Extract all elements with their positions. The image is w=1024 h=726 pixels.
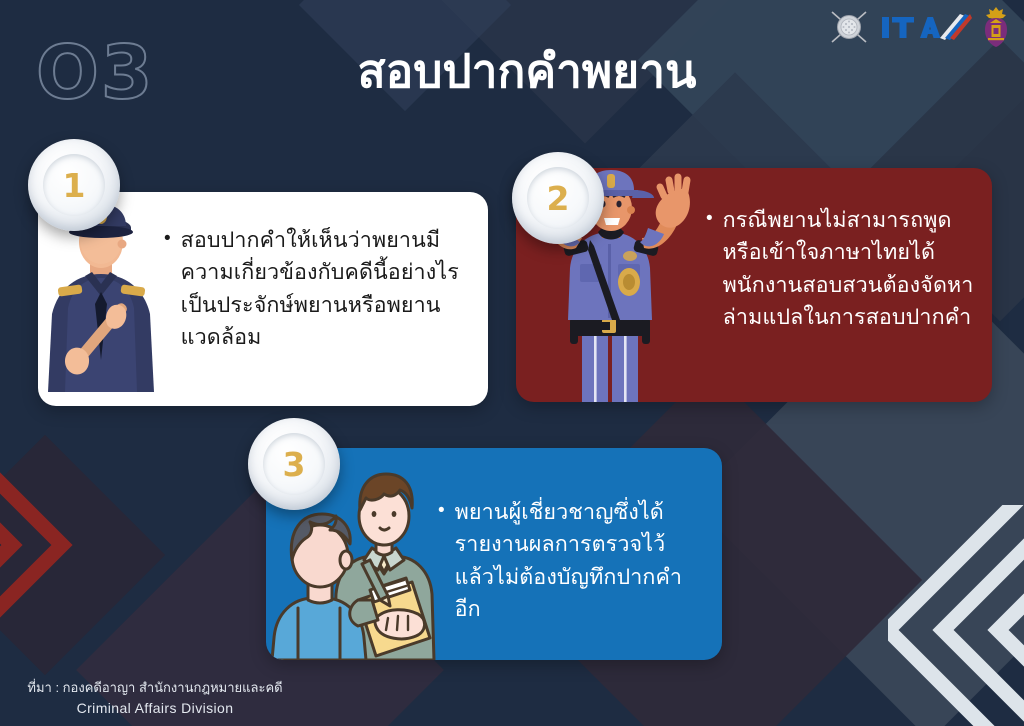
footer-source-thai: ที่มา : กองคดีอาญา สำนักงานกฎหมายและคดี bbox=[10, 679, 300, 698]
royal-thai-police-emblem-logo-icon bbox=[982, 6, 1010, 48]
bullet-icon: • bbox=[706, 204, 713, 233]
logo-group bbox=[828, 6, 1010, 48]
card-1-body-text: สอบปากคำให้เห็นว่าพยานมีความเกี่ยวข้องกั… bbox=[181, 224, 464, 353]
step-badge-1: 1 bbox=[28, 139, 120, 231]
footer-source: ที่มา : กองคดีอาญา สำนักงานกฎหมายและคดี … bbox=[10, 679, 300, 718]
card-item-1: • สอบปากคำให้เห็นว่าพยานมีความเกี่ยวข้อง… bbox=[38, 192, 488, 406]
page-title: สอบปากคำพยาน bbox=[0, 45, 1024, 98]
card-2-text-block: • กรณีพยานไม่สามารถพูดหรือเข้าใจภาษาไทยไ… bbox=[706, 168, 992, 402]
card-3-body-text: พยานผู้เชี่ยวชาญซึ่งได้รายงานผลการตรวจไว… bbox=[455, 496, 698, 625]
police-emblem-logo-icon bbox=[828, 6, 870, 48]
step-badge-2-number: 2 bbox=[547, 179, 570, 218]
slide-canvas: O3 สอบปากคำพยาน bbox=[0, 0, 1024, 726]
left-chevron-pattern-icon bbox=[0, 395, 182, 695]
background-diamond-shape bbox=[0, 435, 165, 675]
right-chevron-pattern-icon bbox=[888, 505, 1024, 726]
step-badge-1-number: 1 bbox=[63, 166, 86, 205]
card-1-text-block: • สอบปากคำให้เห็นว่าพยานมีความเกี่ยวข้อง… bbox=[164, 192, 488, 406]
bullet-icon: • bbox=[438, 496, 445, 525]
step-badge-3: 3 bbox=[248, 418, 340, 510]
ita-logo bbox=[880, 10, 972, 44]
card-3-text-block: • พยานผู้เชี่ยวชาญซึ่งได้รายงานผลการตรวจ… bbox=[438, 448, 722, 660]
card-2-body-text: กรณีพยานไม่สามารถพูดหรือเข้าใจภาษาไทยได้… bbox=[723, 204, 976, 333]
step-badge-2: 2 bbox=[512, 152, 604, 244]
footer-source-english: Criminal Affairs Division bbox=[10, 698, 300, 718]
step-badge-3-number: 3 bbox=[283, 445, 306, 484]
bullet-icon: • bbox=[164, 224, 171, 253]
